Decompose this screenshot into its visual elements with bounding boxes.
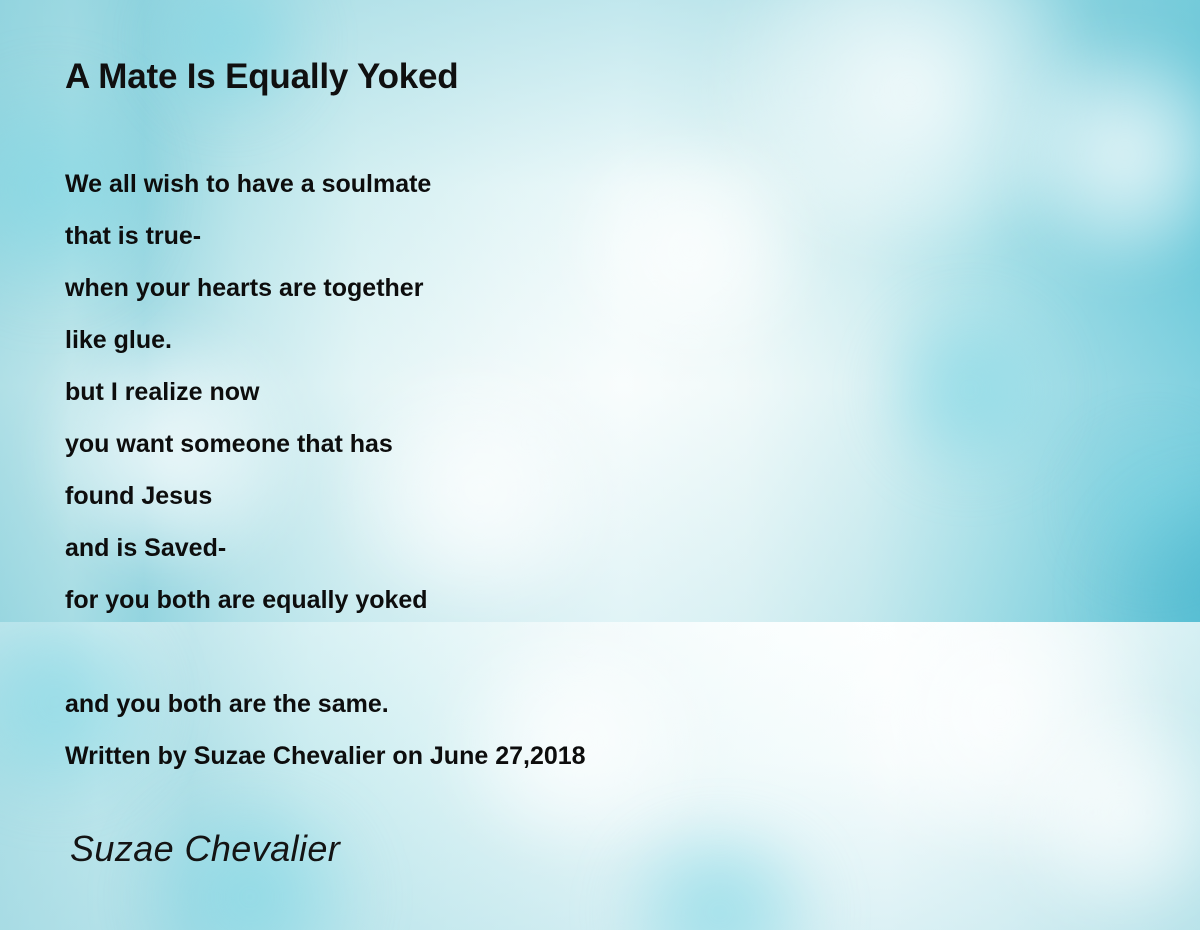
poem-line: but I realize now <box>65 366 1065 418</box>
poem-attribution: Written by Suzae Chevalier on June 27,20… <box>65 730 1065 782</box>
poem-line: like glue. <box>65 314 1065 366</box>
poem-title: A Mate Is Equally Yoked <box>65 57 459 97</box>
poem-line: We all wish to have a soulmate <box>65 158 1065 210</box>
poem-line: found Jesus <box>65 470 1065 522</box>
poem-line: and is Saved- <box>65 522 1065 574</box>
poem-line: you want someone that has <box>65 418 1065 470</box>
author-signature: Suzae Chevalier <box>70 828 340 870</box>
poem-body: We all wish to have a soulmate that is t… <box>65 158 1065 782</box>
poem-line: for you both are equally yoked <box>65 574 1065 626</box>
poem-line-spacer <box>65 626 1065 678</box>
poem-line: that is true- <box>65 210 1065 262</box>
poem-text-layer: A Mate Is Equally Yoked We all wish to h… <box>0 0 1200 930</box>
poem-line: when your hearts are together <box>65 262 1065 314</box>
poem-image-card: A Mate Is Equally Yoked We all wish to h… <box>0 0 1200 930</box>
poem-line: and you both are the same. <box>65 678 1065 730</box>
